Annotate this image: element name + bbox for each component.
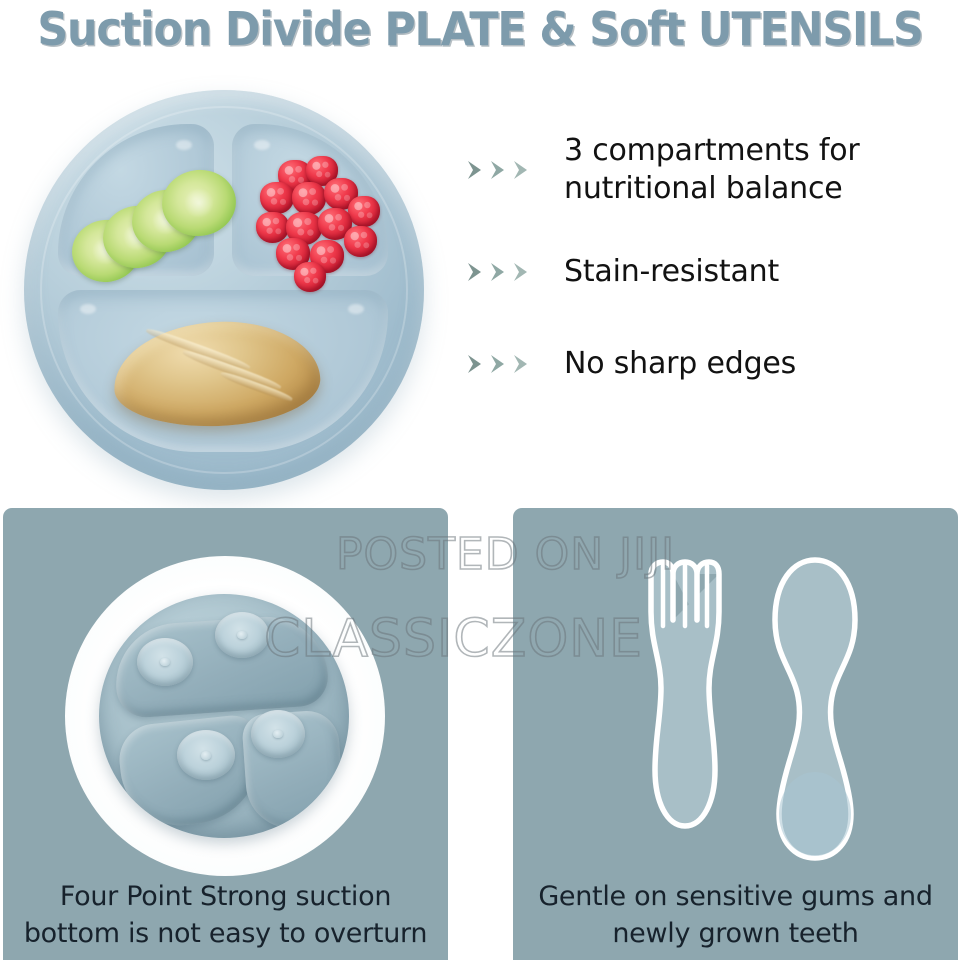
plate-nub [254,140,270,150]
suction-cup [215,612,269,658]
plate-underside [99,594,349,838]
utensils-illustration [513,508,958,888]
chevron-right-icon [489,159,509,181]
panel-caption: Four Point Strong suction bottom is not … [3,878,448,952]
product-photo-plate [24,90,424,490]
raspberry [260,182,294,214]
raspberry [294,262,326,292]
chevron-right-icon [512,353,532,375]
chevron-right-icon [466,353,486,375]
suction-photo-vignette [65,556,385,876]
feature-item-compartments: 3 compartments for nutritional balance [466,114,946,226]
chevron-right-icon [512,159,532,181]
plate-nub [348,304,364,314]
chevron-right-icon [466,261,486,283]
raspberry [344,226,377,257]
feature-list: 3 compartments for nutritional balance S… [466,114,946,410]
utensils-panel: Gentle on sensitive gums and newly grown… [513,508,958,960]
plate-body [24,90,424,490]
plate-nub [176,140,192,150]
raspberry [292,182,326,215]
chevron-right-icon [489,261,509,283]
suction-cup [137,638,193,686]
spoon-bowl [779,772,851,856]
chevron-right-icon [512,261,532,283]
suction-cup [251,710,305,758]
triple-chevron-icon [466,159,564,181]
triple-chevron-icon [466,261,564,283]
triple-chevron-icon [466,353,564,375]
product-infographic: Suction Divide PLATE & Soft UTENSILS [0,0,960,960]
suction-cup [177,730,235,780]
bread-score-mark [145,326,251,372]
page-title: Suction Divide PLATE & Soft UTENSILS [37,4,922,54]
feature-item-stain-resistant: Stain-resistant [466,226,946,318]
panel-caption: Gentle on sensitive gums and newly grown… [513,878,958,952]
suction-bottom-panel: Four Point Strong suction bottom is not … [3,508,448,960]
raspberry-cluster [256,156,386,296]
feature-item-no-sharp-edges: No sharp edges [466,318,946,410]
cucumber-slices [72,168,242,288]
feature-label: 3 compartments for nutritional balance [564,132,860,208]
chevron-right-icon [466,159,486,181]
banner-title: Suction Divide PLATE & Soft UTENSILS [0,0,960,58]
fork-icon [651,562,719,826]
hero-section: 3 compartments for nutritional balance S… [0,62,960,500]
feature-label: No sharp edges [564,345,796,383]
feature-label: Stain-resistant [564,253,779,291]
raspberry [348,196,380,227]
chevron-right-icon [489,353,509,375]
plate-nub [80,304,96,314]
spoon-icon [775,560,855,858]
